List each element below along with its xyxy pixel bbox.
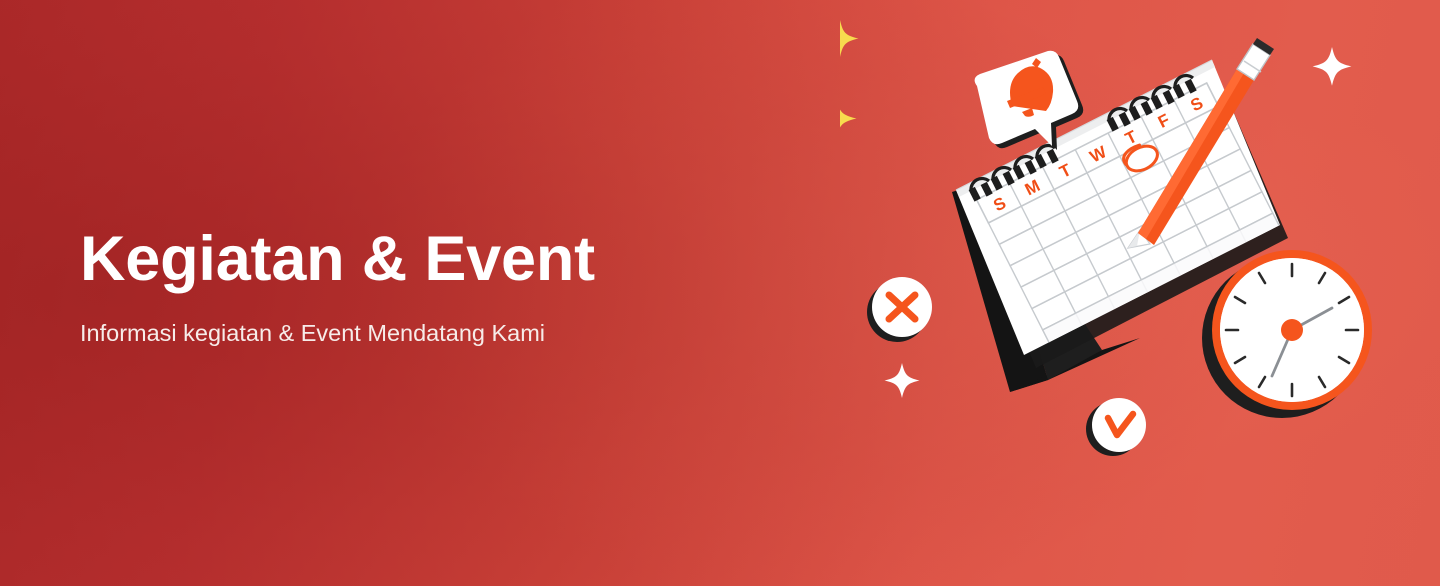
sparkle-white-top-right-icon — [1313, 47, 1352, 86]
analog-clock — [1202, 250, 1372, 418]
sparkle-yellow — [840, 20, 859, 57]
sparkle-white-bottom-left-icon — [885, 363, 920, 398]
calendar-event-illustration: S M T W T F S — [840, 20, 1420, 490]
cross-badge — [867, 277, 932, 342]
banner-copy: Kegiatan & Event Informasi kegiatan & Ev… — [80, 228, 780, 347]
clock-center-dot — [1281, 319, 1303, 341]
hero-banner: Kegiatan & Event Informasi kegiatan & Ev… — [0, 0, 1440, 586]
page-title: Kegiatan & Event — [80, 228, 780, 291]
page-subtitle: Informasi kegiatan & Event Mendatang Kam… — [80, 291, 780, 347]
check-badge — [1086, 398, 1146, 456]
sparkle-yellow-icon — [840, 98, 857, 139]
